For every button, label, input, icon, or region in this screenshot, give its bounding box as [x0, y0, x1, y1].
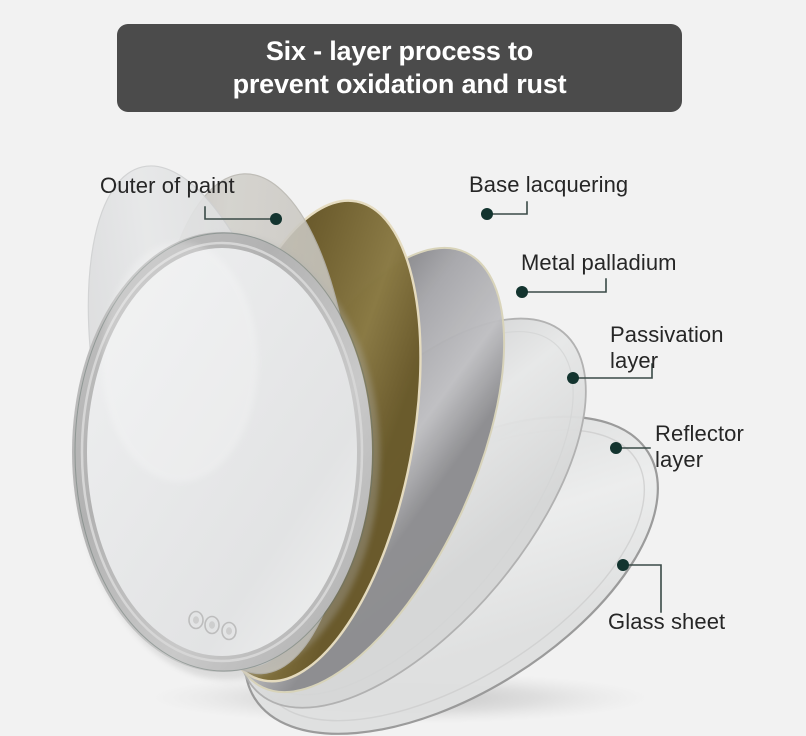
marker-reflector	[610, 442, 622, 454]
title-line-2: prevent oxidation and rust	[233, 68, 567, 101]
callout-label-passivation-layer: Passivation layer	[610, 322, 724, 374]
mirror-product	[72, 232, 380, 680]
callout-label-outer-of-paint: Outer of paint	[100, 173, 235, 199]
marker-outer-of-paint	[270, 213, 282, 225]
marker-base-lacquering	[481, 208, 493, 220]
marker-metal-palladium	[516, 286, 528, 298]
marker-passivation	[567, 372, 579, 384]
callout-label-base-lacquering: Base lacquering	[469, 172, 628, 198]
marker-glass-sheet	[617, 559, 629, 571]
title-line-1: Six - layer process to	[266, 35, 533, 68]
leader-base-lacquering	[492, 202, 527, 214]
leader-metal-palladium	[527, 279, 606, 292]
leader-glass-sheet	[628, 565, 661, 612]
title-banner: Six - layer process to prevent oxidation…	[117, 24, 682, 112]
callout-label-glass-sheet: Glass sheet	[608, 609, 725, 635]
infographic-canvas: Six - layer process to prevent oxidation…	[0, 0, 806, 736]
callout-label-reflector-layer: Reflector layer	[655, 421, 744, 473]
callout-label-metal-palladium: Metal palladium	[521, 250, 677, 276]
